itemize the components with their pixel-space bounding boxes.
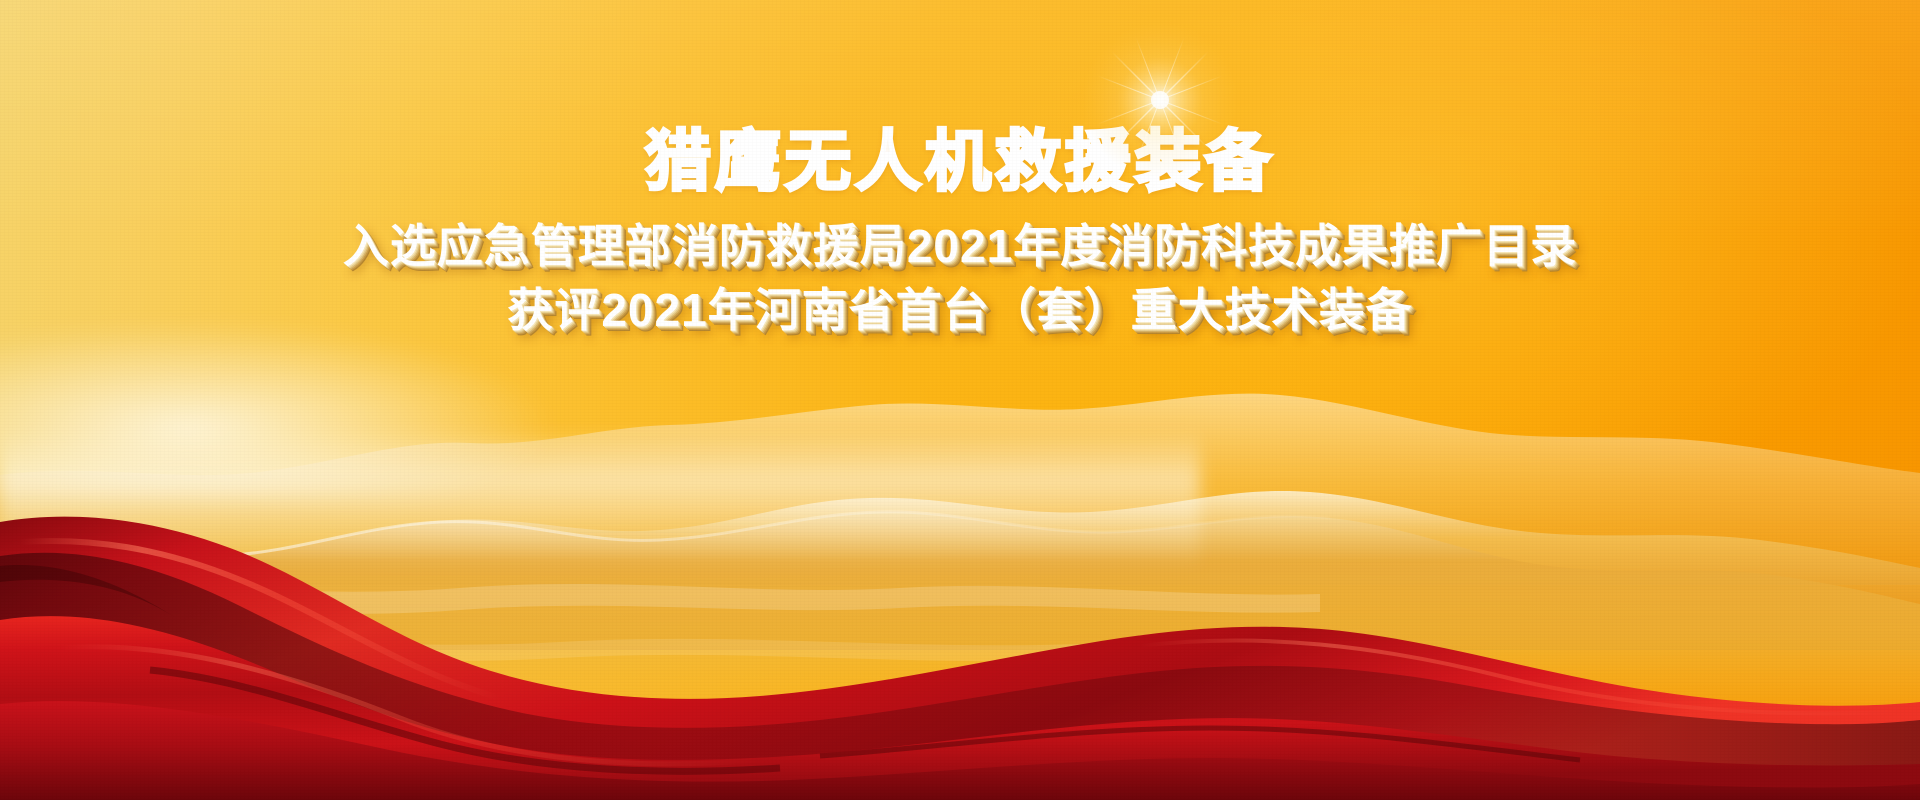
banner-subtitle-line-2: 获评2021年河南省首台（套）重大技术装备 — [0, 274, 1920, 340]
mist-highlight-left — [0, 320, 560, 500]
mountain-layer-mid — [0, 420, 1920, 650]
banner-subtitle-line-1: 入选应急管理部消防救援局2021年度消防科技成果推广目录 — [0, 210, 1920, 276]
red-silk-ribbon — [0, 470, 1920, 800]
mist-band — [0, 430, 1200, 570]
banner-main-title: 猎鹰无人机救援装备 — [0, 108, 1920, 204]
promo-banner: 猎鹰无人机救援装备 — [0, 0, 1920, 800]
mountain-layer-far — [0, 355, 1920, 585]
mountain-layer-near — [0, 460, 1920, 710]
